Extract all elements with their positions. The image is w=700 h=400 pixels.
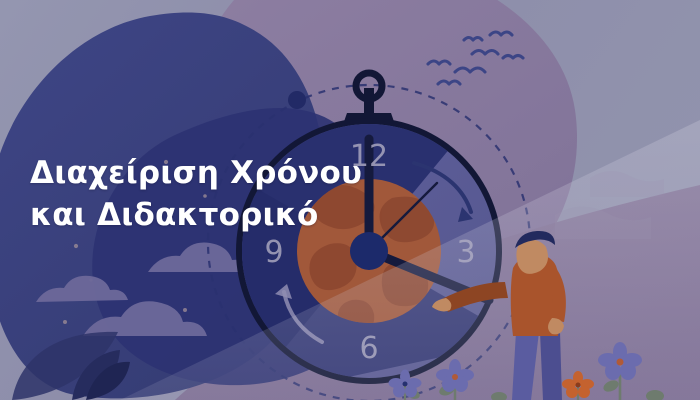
banner-root: 12 3 6 9 [0, 0, 700, 400]
clock-numeral-12: 12 [350, 139, 388, 174]
clock-hub [350, 232, 388, 270]
orbit-dot [288, 91, 306, 109]
scene-illustration: 12 3 6 9 [0, 0, 700, 400]
star [164, 160, 168, 164]
star [63, 320, 67, 324]
star [203, 194, 207, 198]
person-leg-right [540, 332, 562, 400]
clock-numeral-9: 9 [264, 235, 283, 270]
star [74, 244, 78, 248]
star [183, 308, 187, 312]
